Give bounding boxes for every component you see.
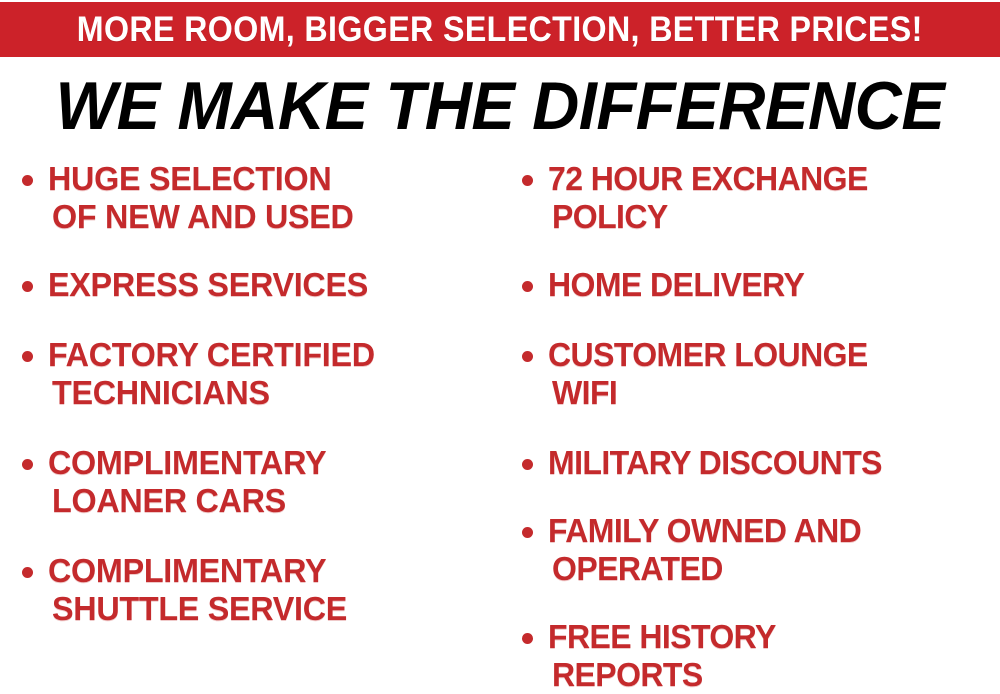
advertisement-page: MORE ROOM, BIGGER SELECTION, BETTER PRIC…	[0, 0, 1000, 694]
promo-banner: MORE ROOM, BIGGER SELECTION, BETTER PRIC…	[0, 2, 1000, 57]
feature-item: FREE HISTORY REPORTS	[514, 618, 1000, 694]
bullet-dot-icon	[522, 527, 533, 538]
feature-line-1: FAMILY OWNED AND	[548, 512, 986, 550]
feature-line-2: WIFI	[552, 374, 987, 412]
features-right-column: 72 HOUR EXCHANGE POLICY HOME DELIVERY CU…	[514, 160, 1000, 694]
bullet-dot-icon	[522, 351, 533, 362]
bullet-dot-icon	[22, 175, 33, 186]
feature-line-2: REPORTS	[552, 656, 987, 694]
bullet-dot-icon	[522, 633, 533, 644]
bullet-dot-icon	[522, 459, 533, 470]
feature-item: EXPRESS SERVICES	[14, 266, 494, 304]
bullet-dot-icon	[22, 459, 33, 470]
feature-line-1: EXPRESS SERVICES	[48, 266, 485, 304]
feature-line-1: COMPLIMENTARY	[48, 552, 485, 590]
bullet-dot-icon	[22, 567, 33, 578]
feature-line-1: CUSTOMER LOUNGE	[548, 336, 986, 374]
feature-line-1: MILITARY DISCOUNTS	[548, 444, 986, 482]
feature-line-2: SHUTTLE SERVICE	[52, 590, 485, 628]
feature-line-1: FREE HISTORY	[548, 618, 986, 656]
feature-item: FACTORY CERTIFIED TECHNICIANS	[14, 336, 494, 412]
feature-item: COMPLIMENTARY SHUTTLE SERVICE	[14, 552, 494, 628]
feature-line-1: HUGE SELECTION	[48, 160, 485, 198]
bullet-dot-icon	[22, 281, 33, 292]
feature-item: HOME DELIVERY	[514, 266, 1000, 304]
feature-line-1: FACTORY CERTIFIED	[48, 336, 485, 374]
feature-line-1: 72 HOUR EXCHANGE	[548, 160, 986, 198]
page-title: WE MAKE THE DIFFERENCE	[56, 72, 945, 140]
feature-line-2: OPERATED	[552, 550, 987, 588]
feature-line-2: TECHNICIANS	[52, 374, 485, 412]
feature-line-2: POLICY	[552, 198, 987, 236]
headline-container: WE MAKE THE DIFFERENCE	[0, 68, 1000, 144]
feature-line-2: LOANER CARS	[52, 482, 485, 520]
feature-line-2: OF NEW AND USED	[52, 198, 485, 236]
features-left-column: HUGE SELECTION OF NEW AND USED EXPRESS S…	[14, 160, 494, 628]
bullet-dot-icon	[22, 351, 33, 362]
features-columns: HUGE SELECTION OF NEW AND USED EXPRESS S…	[0, 160, 1000, 694]
feature-item: FAMILY OWNED AND OPERATED	[514, 512, 1000, 588]
feature-line-1: COMPLIMENTARY	[48, 444, 485, 482]
feature-item: MILITARY DISCOUNTS	[514, 444, 1000, 482]
feature-item: 72 HOUR EXCHANGE POLICY	[514, 160, 1000, 236]
feature-item: COMPLIMENTARY LOANER CARS	[14, 444, 494, 520]
feature-item: CUSTOMER LOUNGE WIFI	[514, 336, 1000, 412]
feature-line-1: HOME DELIVERY	[548, 266, 986, 304]
promo-banner-text: MORE ROOM, BIGGER SELECTION, BETTER PRIC…	[77, 12, 923, 47]
bullet-dot-icon	[522, 281, 533, 292]
feature-item: HUGE SELECTION OF NEW AND USED	[14, 160, 494, 236]
bullet-dot-icon	[522, 175, 533, 186]
